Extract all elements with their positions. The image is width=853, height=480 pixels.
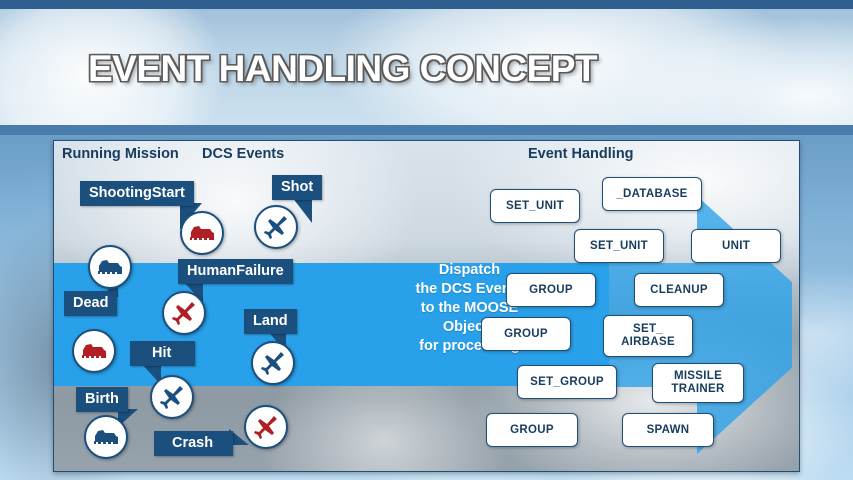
jet-red-icon-humanfailure <box>162 291 206 335</box>
event-label-hit[interactable]: Hit <box>130 341 195 366</box>
object-box-set-airbase[interactable]: SET_ AIRBASE <box>603 315 693 357</box>
tank-navy-icon-dead <box>88 245 132 289</box>
jet-navy-icon <box>254 205 298 249</box>
object-box-set-unit-2[interactable]: SET_UNIT <box>574 229 664 263</box>
tank-red-icon-extra <box>72 329 116 373</box>
event-label-birth[interactable]: Birth <box>76 387 128 412</box>
event-label-crash[interactable]: Crash <box>154 431 233 456</box>
object-box-set-unit-1[interactable]: SET_UNIT <box>490 189 580 223</box>
event-label-shot[interactable]: Shot <box>272 175 322 200</box>
object-box-missile-trainer[interactable]: MISSILE TRAINER <box>652 363 744 403</box>
object-box-spawn[interactable]: SPAWN <box>622 413 714 447</box>
tank-red-icon <box>180 211 224 255</box>
header-divider-band <box>0 125 853 135</box>
event-label-humanfailure[interactable]: HumanFailure <box>178 259 293 284</box>
object-box-set-group[interactable]: SET_GROUP <box>517 365 617 399</box>
event-label-shootingstart[interactable]: ShootingStart <box>80 181 194 206</box>
slide-canvas: EVENT HANDLING CONCEPT Dispatch the DCS … <box>0 0 853 480</box>
object-box-unit[interactable]: UNIT <box>691 229 781 263</box>
object-box-group-1[interactable]: GROUP <box>506 273 596 307</box>
top-accent-band <box>0 0 853 9</box>
event-label-dead[interactable]: Dead <box>64 291 117 316</box>
page-title: EVENT HANDLING CONCEPT <box>88 48 597 90</box>
diagram-panel: Dispatch the DCS Events to the MOOSE Obj… <box>53 140 800 472</box>
header-event-handling: Event Handling <box>528 146 634 162</box>
object-box-cleanup[interactable]: CLEANUP <box>634 273 724 307</box>
tank-navy-icon-birth <box>84 415 128 459</box>
jet-red-icon-crash <box>244 405 288 449</box>
object-box-group-2[interactable]: GROUP <box>481 317 571 351</box>
jet-navy-icon-hit <box>150 375 194 419</box>
jet-navy-icon-land <box>251 341 295 385</box>
object-box-group-3[interactable]: GROUP <box>486 413 578 447</box>
event-label-land[interactable]: Land <box>244 309 297 334</box>
object-box-database[interactable]: _DATABASE <box>602 177 702 211</box>
header-running-mission: Running Mission <box>62 146 179 162</box>
header-dcs-events: DCS Events <box>202 146 284 162</box>
